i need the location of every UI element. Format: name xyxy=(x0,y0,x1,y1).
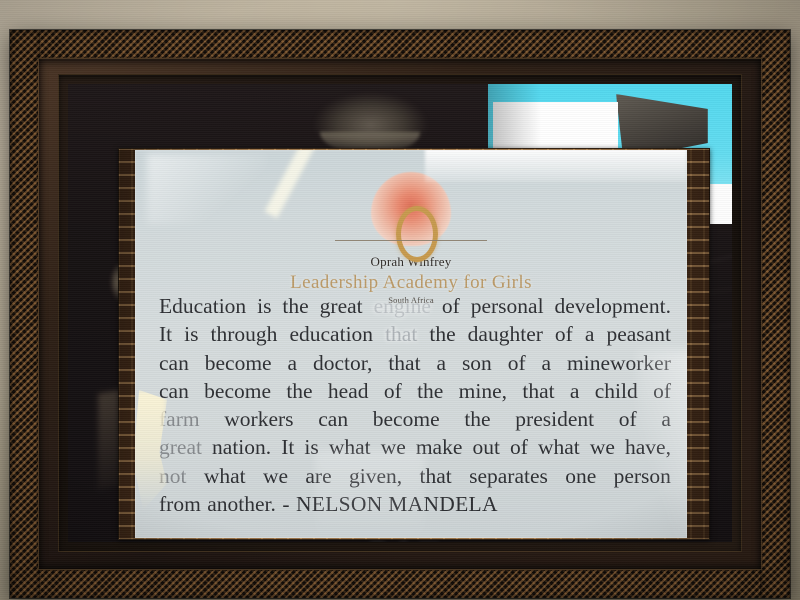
quote-word: of xyxy=(619,405,637,433)
quote-word: is xyxy=(257,292,271,320)
quote-word: from xyxy=(159,490,201,518)
printed-sheet: Oprah Winfrey Leadership Academy for Gir… xyxy=(135,150,687,538)
logo-gold-o-ring xyxy=(396,206,438,262)
quote-word: the xyxy=(464,405,490,433)
quote-word: president xyxy=(515,405,594,433)
quote-word: the xyxy=(282,292,308,320)
print-glare-bottom xyxy=(315,450,425,538)
quote-line: farmworkerscanbecomethepresidentofa xyxy=(159,405,671,433)
quote-word: It xyxy=(281,433,294,461)
quote-word: engine xyxy=(374,292,431,320)
quote-word: can xyxy=(318,405,348,433)
quote-word: daughter xyxy=(468,320,543,348)
quote-word: son xyxy=(462,349,492,377)
quote-line: Educationisthegreatengineofpersonaldevel… xyxy=(159,292,671,320)
quote-word: It xyxy=(159,320,172,348)
quote-word: what xyxy=(538,433,580,461)
quote-word: personal xyxy=(471,292,544,320)
logo-subtitle: Leadership Academy for Girls xyxy=(135,272,687,294)
quote-word: we xyxy=(263,462,288,490)
quote-word: doctor, xyxy=(313,349,372,377)
quote-word: a xyxy=(585,320,595,348)
quote-word: through xyxy=(211,320,278,348)
quote-word: a xyxy=(570,377,580,405)
quote-word: mine, xyxy=(459,377,507,405)
quote-word: education xyxy=(289,320,373,348)
quote-word: a xyxy=(288,349,298,377)
quote-word: what xyxy=(204,462,246,490)
quote-word: - xyxy=(282,490,289,518)
quote-word: become xyxy=(204,377,271,405)
quote-word: peasant xyxy=(606,320,670,348)
quote-word: head xyxy=(328,377,369,405)
quote-word: a xyxy=(542,349,552,377)
quote-word: the xyxy=(417,377,443,405)
quote-word: that xyxy=(388,349,420,377)
quote-word: become xyxy=(373,405,440,433)
quote-word: we xyxy=(590,433,615,461)
quote-word: another. xyxy=(207,490,276,518)
print-glare-right xyxy=(637,350,687,538)
quote-word: of xyxy=(555,320,573,348)
quote-word: can xyxy=(159,349,189,377)
oprah-winfrey-academy-sun-logo xyxy=(363,172,459,250)
quote-word: workers xyxy=(224,405,293,433)
quote-word: that xyxy=(522,377,554,405)
quote-word: child xyxy=(595,377,638,405)
quote-word: the xyxy=(429,320,455,348)
quote-word: separates xyxy=(469,462,548,490)
quote-word: that xyxy=(385,320,417,348)
quote-word: great xyxy=(159,433,202,461)
quote-line: canbecomeadoctor,thatasonofamineworker xyxy=(159,349,671,377)
quote-line: Itisthrougheducationthatthedaughterofape… xyxy=(159,320,671,348)
quote-word: a xyxy=(436,349,446,377)
print-top-glare-band xyxy=(425,150,687,182)
quote-word: development. xyxy=(555,292,671,320)
framed-quote-photo: Oprah Winfrey Leadership Academy for Gir… xyxy=(0,0,800,600)
quote-word: the xyxy=(286,377,312,405)
frame-carved-band-right xyxy=(760,30,790,598)
quote-word: of xyxy=(508,349,526,377)
print-glare-top-left xyxy=(147,154,267,224)
frame-carved-band-bottom xyxy=(10,568,790,598)
quote-word: great xyxy=(320,292,363,320)
frame-carved-band-top xyxy=(10,30,790,60)
quote-word: nation. xyxy=(212,433,271,461)
quote-word: become xyxy=(205,349,272,377)
picture-frame: Oprah Winfrey Leadership Academy for Gir… xyxy=(10,30,790,598)
quote-word: out xyxy=(472,433,499,461)
quote-word: is xyxy=(184,320,198,348)
quote-word: of xyxy=(384,377,402,405)
quote-line: canbecometheheadofthemine,thatachildof xyxy=(159,377,671,405)
quote-word: of xyxy=(510,433,528,461)
quote-word: one xyxy=(565,462,596,490)
frame-carved-band-left xyxy=(10,30,40,598)
quote-word: of xyxy=(442,292,460,320)
quote-word: Education xyxy=(159,292,246,320)
logo-horizontal-rule xyxy=(335,240,487,241)
